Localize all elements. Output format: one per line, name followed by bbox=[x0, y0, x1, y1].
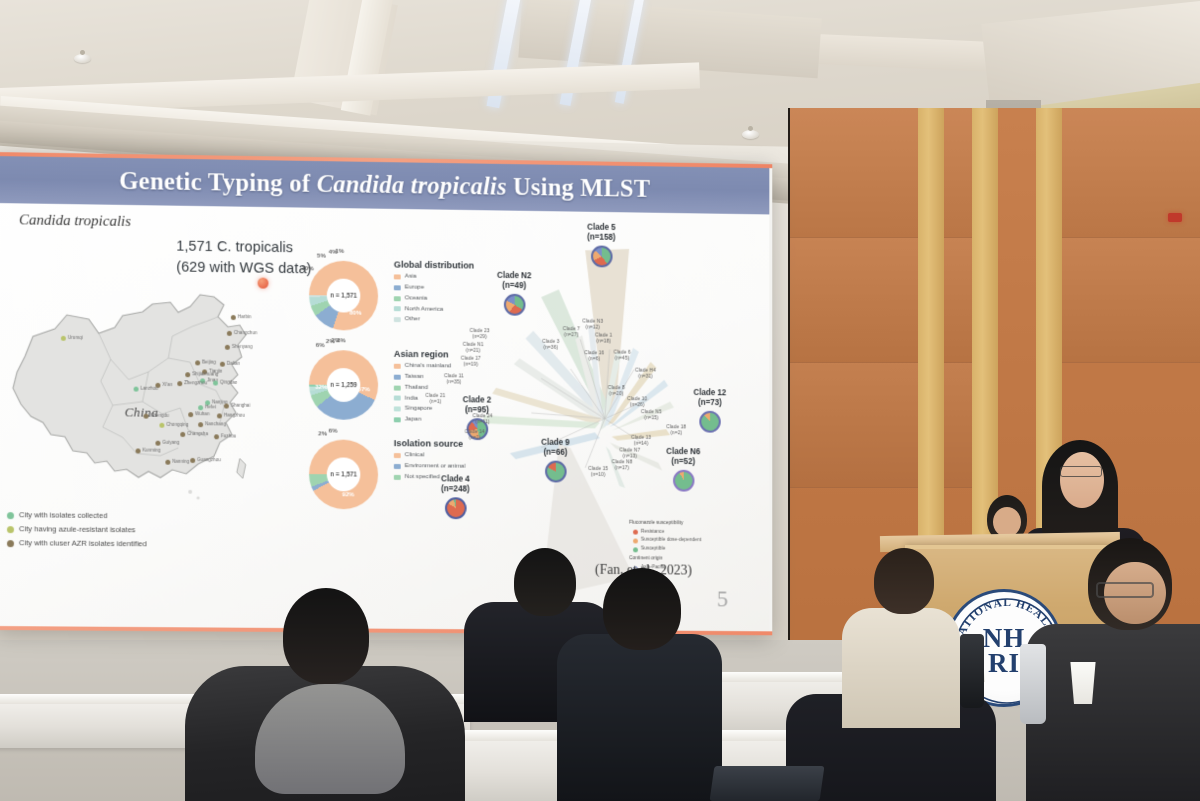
chart-legend-label: Asia bbox=[405, 272, 417, 283]
clade-marker: Clade N6(n=52) bbox=[666, 447, 700, 491]
clade-count: (n=11) bbox=[473, 420, 493, 427]
exit-light-icon bbox=[1168, 213, 1182, 222]
clade-count: (n=18) bbox=[595, 339, 612, 345]
clade-label: Clade N5(n=15) bbox=[641, 409, 662, 422]
donut-value-label: 2% bbox=[318, 431, 327, 438]
slide-number: 5 bbox=[717, 587, 728, 613]
wood-panel bbox=[1055, 238, 1200, 363]
china-map-outline bbox=[3, 284, 301, 517]
clade-name: Clade N2 bbox=[497, 271, 531, 282]
presenter-face bbox=[1060, 452, 1104, 508]
donut-value-label: 1% bbox=[335, 248, 344, 255]
tree-legend-label: Susceptible bbox=[641, 545, 666, 554]
clade-count: (n=248) bbox=[441, 485, 470, 495]
map-city-label: Nanning bbox=[172, 459, 189, 464]
clade-pie-icon bbox=[545, 460, 567, 482]
legend-swatch bbox=[394, 475, 401, 480]
clade-count: (n=21) bbox=[463, 348, 484, 355]
donut-value-label: 80% bbox=[349, 309, 361, 316]
map-city-label: Shenyang bbox=[232, 344, 253, 349]
map-city-dot bbox=[190, 458, 195, 463]
sprinkler-icon bbox=[742, 130, 759, 139]
clade-label: Clade 8(n=20) bbox=[608, 385, 625, 398]
legend-swatch bbox=[7, 540, 14, 547]
map-legend-item: City with cluser AZR isolates identified bbox=[7, 536, 147, 551]
clade-count: (n=31) bbox=[635, 374, 656, 381]
clade-label: Clade 14(n=2) bbox=[465, 429, 485, 442]
water-bottle bbox=[960, 634, 984, 708]
clade-pie-icon bbox=[673, 469, 694, 491]
map-city-label: Kunming bbox=[143, 448, 161, 453]
clade-name: Clade 12 bbox=[693, 388, 726, 398]
wood-panel bbox=[790, 363, 995, 488]
map-city-dot bbox=[136, 448, 141, 453]
map-city-label: Guiyang bbox=[162, 440, 179, 445]
water-bottle bbox=[1020, 644, 1046, 724]
legend-swatch bbox=[394, 417, 401, 422]
legend-swatch bbox=[7, 526, 14, 533]
isolate-count-line1: 1,571 C. tropicalis bbox=[176, 237, 311, 260]
donut-value-label: 6% bbox=[316, 342, 325, 349]
map-city-dot bbox=[220, 362, 225, 367]
clade-name: Clade 4 bbox=[441, 474, 470, 484]
map-city-label: Changchun bbox=[234, 330, 257, 335]
map-legend: City with isolates collectedCity having … bbox=[7, 508, 147, 551]
map-city-label: Guangzhou bbox=[197, 457, 221, 462]
map-city-label: Harbin bbox=[238, 314, 251, 319]
clade-count: (n=2) bbox=[666, 431, 686, 437]
chart-legend-label: Japan bbox=[405, 415, 422, 426]
map-city-label: Lanzhou bbox=[141, 386, 159, 391]
donut-value-label: 92% bbox=[342, 492, 354, 499]
donut-center-label: n = 1,571 bbox=[327, 278, 361, 312]
clade-count: (n=20) bbox=[608, 391, 625, 397]
clade-count: (n=2) bbox=[465, 435, 485, 442]
legend-swatch bbox=[394, 285, 401, 290]
clade-count: (n=12) bbox=[582, 325, 603, 332]
audience-head bbox=[514, 548, 576, 616]
map-city-label: Beijing bbox=[202, 359, 216, 364]
map-city-dot bbox=[227, 331, 232, 336]
map-city-label: Shijiazhuang bbox=[192, 371, 218, 376]
clade-count: (n=49) bbox=[497, 281, 531, 292]
map-city-dot bbox=[217, 413, 222, 418]
map-city-dot bbox=[144, 414, 149, 419]
clade-count: (n=10) bbox=[588, 472, 608, 478]
clade-count: (n=29) bbox=[470, 334, 490, 341]
clade-label: Clade 21(n=1) bbox=[425, 393, 445, 406]
legend-swatch bbox=[394, 453, 401, 458]
nhri-abbrev: NH RI bbox=[983, 626, 1026, 676]
map-city-dot bbox=[180, 432, 185, 437]
clade-label: Clade 18(n=2) bbox=[666, 424, 686, 437]
clade-marker: Clade 9(n=66) bbox=[541, 438, 570, 482]
map-legend-label: City with isolates collected bbox=[19, 508, 107, 523]
lecture-hall-photo: Genetic Typing of Candida tropicalis Usi… bbox=[0, 0, 1200, 801]
glasses-icon bbox=[1096, 582, 1154, 598]
sprinkler-icon bbox=[74, 54, 91, 63]
clade-count: (n=1) bbox=[425, 399, 445, 406]
audience-head bbox=[603, 568, 681, 650]
clade-label: Clade 10(n=26) bbox=[627, 396, 647, 409]
audience-head bbox=[283, 588, 369, 684]
map-city-dot bbox=[177, 381, 182, 386]
clade-count: (n=6) bbox=[584, 356, 604, 363]
audience-head bbox=[874, 548, 934, 614]
projection-screen: Genetic Typing of Candida tropicalis Usi… bbox=[0, 152, 772, 635]
clade-name: Clade 5 bbox=[587, 223, 615, 234]
map-city-dot bbox=[134, 387, 139, 392]
map-city-dot bbox=[225, 345, 230, 350]
isolate-count-text: 1,571 C. tropicalis (629 with WGS data) bbox=[176, 237, 311, 281]
map-city-dot bbox=[155, 441, 160, 446]
map-legend-label: City with cluser AZR isolates identified bbox=[19, 536, 147, 551]
clade-label: Clade 7(n=27) bbox=[563, 326, 580, 339]
map-city-label: Urumqi bbox=[68, 335, 83, 340]
donut-center-label: n = 1,571 bbox=[327, 457, 361, 491]
map-city-label: Zhengzhou bbox=[184, 380, 207, 385]
map-city-label: Changsha bbox=[187, 431, 208, 436]
map-city-label: Chongqing bbox=[166, 422, 188, 427]
wood-panel bbox=[790, 238, 995, 363]
map-city-label: Hangzhou bbox=[224, 413, 245, 418]
clade-count: (n=14) bbox=[631, 441, 651, 447]
slide-title: Genetic Typing of Candida tropicalis Usi… bbox=[119, 167, 650, 203]
map-city-label: Dalian bbox=[227, 361, 240, 366]
legend-swatch bbox=[394, 317, 401, 322]
nhri-abbrev-line2: RI bbox=[983, 651, 1026, 676]
clade-label: Clade N3(n=12) bbox=[582, 319, 603, 332]
glasses-icon bbox=[1060, 466, 1102, 477]
clade-pie-icon bbox=[591, 245, 612, 267]
clade-count: (n=158) bbox=[587, 233, 615, 244]
clade-count: (n=35) bbox=[444, 380, 464, 387]
map-city-dot bbox=[198, 422, 203, 427]
clade-count: (n=36) bbox=[542, 345, 559, 352]
donut-value-label: 57% bbox=[358, 386, 370, 393]
legend-swatch bbox=[394, 374, 401, 379]
presentation-slide: Genetic Typing of Candida tropicalis Usi… bbox=[0, 156, 769, 631]
map-city-dot bbox=[185, 372, 190, 377]
clade-count: (n=73) bbox=[693, 398, 726, 408]
slide-subtitle: Candida tropicalis bbox=[19, 212, 131, 231]
clade-name: Clade N6 bbox=[666, 447, 700, 457]
panelist-face bbox=[993, 507, 1021, 537]
clade-label: Clade H4(n=31) bbox=[635, 368, 656, 381]
chart-legend-label: India bbox=[405, 393, 418, 404]
map-city-label: Chengdu bbox=[150, 413, 169, 418]
map-city-dot bbox=[198, 405, 203, 410]
clade-marker: Clade 12(n=73) bbox=[693, 388, 726, 432]
clade-count: (n=17) bbox=[612, 466, 633, 472]
map-city-label: Xi'an bbox=[162, 382, 172, 387]
legend-swatch bbox=[7, 512, 14, 519]
donut-ring: n = 1,571 bbox=[309, 260, 378, 330]
map-city-label: Fuzhou bbox=[221, 433, 236, 438]
map-city-dot bbox=[214, 434, 219, 439]
chart-legend-label: Europe bbox=[405, 282, 425, 293]
tree-legend-label: Resistance bbox=[641, 528, 665, 537]
clade-count: (n=27) bbox=[563, 332, 580, 339]
legend-swatch bbox=[394, 407, 401, 412]
chart-legend-label: Taiwan bbox=[405, 372, 424, 383]
clade-label: Clade N7(n=13) bbox=[619, 447, 640, 460]
clade-label: Clade 3(n=36) bbox=[542, 339, 559, 352]
audience-torso bbox=[1026, 624, 1200, 801]
donut-ring: n = 1,571 bbox=[309, 439, 378, 509]
isolate-count-line2: (629 with WGS data) bbox=[176, 258, 311, 281]
clade-label: Clade N8(n=17) bbox=[612, 459, 633, 472]
clade-count: (n=52) bbox=[666, 457, 700, 467]
clade-marker: Clade 5(n=158) bbox=[587, 223, 615, 267]
clade-pie-icon bbox=[699, 410, 720, 432]
legend-swatch bbox=[394, 385, 401, 390]
map-city-label: Hefei bbox=[205, 404, 216, 409]
clade-label: Clade 6(n=45) bbox=[614, 350, 631, 363]
donut-value-label: 6% bbox=[329, 427, 338, 434]
clade-name: Clade 2 bbox=[463, 395, 492, 405]
map-legend-item: City having azule-resistant isolates bbox=[7, 522, 147, 537]
map-city-dot bbox=[213, 381, 218, 386]
donut-value-label: 2% bbox=[337, 337, 346, 344]
map-city-dot bbox=[61, 336, 66, 341]
donut-center-label: n = 1,259 bbox=[327, 368, 361, 402]
legend-swatch bbox=[394, 396, 401, 401]
chart-legend-label: Clinical bbox=[405, 450, 425, 461]
phylogenetic-tree: Clade 5(n=158)Clade N2(n=49)Clade 2(n=95… bbox=[423, 218, 765, 617]
tree-legend-item: Susceptible bbox=[629, 545, 701, 554]
clade-count: (n=66) bbox=[541, 448, 570, 458]
map-city-dot bbox=[188, 412, 193, 417]
clade-count: (n=45) bbox=[614, 356, 631, 362]
clade-label: Clade 24(n=11) bbox=[473, 413, 493, 426]
map-city-label: Nanchang bbox=[205, 421, 226, 426]
clade-label: Clade 17(n=19) bbox=[461, 356, 481, 369]
legend-swatch bbox=[394, 464, 401, 469]
map-legend-label: City having azule-resistant isolates bbox=[19, 522, 136, 537]
clade-pie-icon bbox=[503, 293, 525, 315]
audience-torso bbox=[842, 608, 960, 728]
map-city-label: Wuhan bbox=[195, 411, 209, 416]
clade-label: Clade 1(n=18) bbox=[595, 333, 612, 346]
legend-swatch bbox=[394, 296, 401, 301]
map-city-dot bbox=[224, 404, 229, 409]
legend-swatch bbox=[633, 547, 638, 552]
map-legend-item: City with isolates collected bbox=[7, 508, 147, 523]
clade-name: Clade 9 bbox=[541, 438, 570, 448]
laptop bbox=[710, 766, 825, 801]
map-city-label: Shanghai bbox=[231, 403, 250, 408]
audience-torso bbox=[557, 634, 722, 801]
map-city-dot bbox=[159, 423, 164, 428]
clade-pie-icon bbox=[445, 497, 467, 519]
legend-swatch bbox=[394, 307, 401, 312]
clade-marker: Clade 4(n=248) bbox=[441, 474, 470, 518]
legend-swatch bbox=[633, 530, 638, 535]
donut-value-label: 10% bbox=[301, 265, 313, 272]
legend-swatch bbox=[633, 538, 638, 543]
clade-count: (n=19) bbox=[461, 362, 481, 369]
map-city-dot bbox=[165, 460, 170, 465]
clade-label: Clade 23(n=29) bbox=[470, 328, 490, 341]
clade-label: Clade 15(n=10) bbox=[588, 466, 608, 479]
clade-label: Clade 16(n=6) bbox=[584, 350, 604, 363]
clade-label: Clade 11(n=35) bbox=[444, 373, 464, 386]
legend-swatch bbox=[394, 364, 401, 369]
map-city-dot bbox=[195, 360, 200, 365]
donut-value-label: 32% bbox=[315, 383, 327, 390]
chart-legend-label: Other bbox=[405, 315, 420, 326]
clade-count: (n=15) bbox=[641, 415, 662, 422]
map-city-dot bbox=[231, 315, 236, 320]
clade-label: Clade 13(n=14) bbox=[631, 435, 651, 448]
map-city-label: Qingdao bbox=[220, 380, 237, 385]
clade-count: (n=26) bbox=[627, 402, 647, 409]
clade-label: Clade N1(n=21) bbox=[463, 342, 484, 355]
legend-swatch bbox=[394, 274, 401, 279]
donut-value-label: 5% bbox=[317, 252, 326, 259]
clade-marker: Clade N2(n=49) bbox=[497, 271, 531, 316]
wood-panel bbox=[790, 108, 995, 238]
